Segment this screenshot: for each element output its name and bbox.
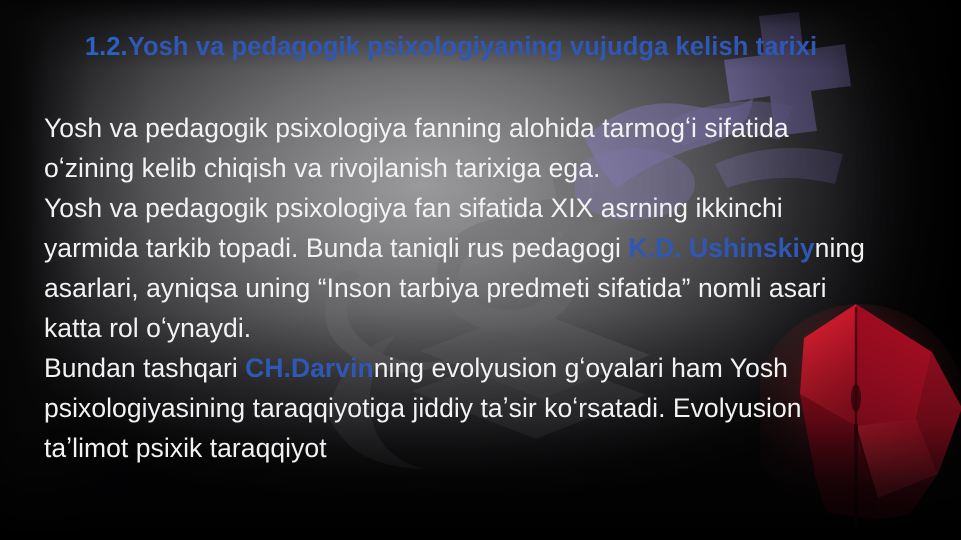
paragraph-1-text: Yosh va pedagogik psixologiya fanning al… — [44, 113, 789, 183]
paragraph-3-lead: Bundan tashqari — [44, 353, 245, 383]
title-number: 1.2. — [85, 33, 128, 61]
body-paragraph-2: Yosh va pedagogik psixologiya fan sifati… — [44, 188, 874, 348]
highlight-ushinskiy: K.D. Ushinskiy — [628, 233, 814, 263]
slide-title: 1.2.Yosh va pedagogik psixologiyaning vu… — [46, 32, 856, 63]
slide-body: Yosh va pedagogik psixologiya fanning al… — [44, 108, 874, 468]
title-text: Yosh va pedagogik psixologiyaning vujudg… — [128, 33, 817, 61]
presentation-slide: 1.2.Yosh va pedagogik psixologiyaning vu… — [0, 0, 961, 540]
body-paragraph-1: Yosh va pedagogik psixologiya fanning al… — [44, 108, 874, 188]
slide-content: 1.2.Yosh va pedagogik psixologiyaning vu… — [0, 0, 961, 540]
highlight-darvin: CH.Darvin — [245, 353, 374, 383]
body-paragraph-3: Bundan tashqari CH.Darvinning evolyusion… — [44, 348, 874, 468]
